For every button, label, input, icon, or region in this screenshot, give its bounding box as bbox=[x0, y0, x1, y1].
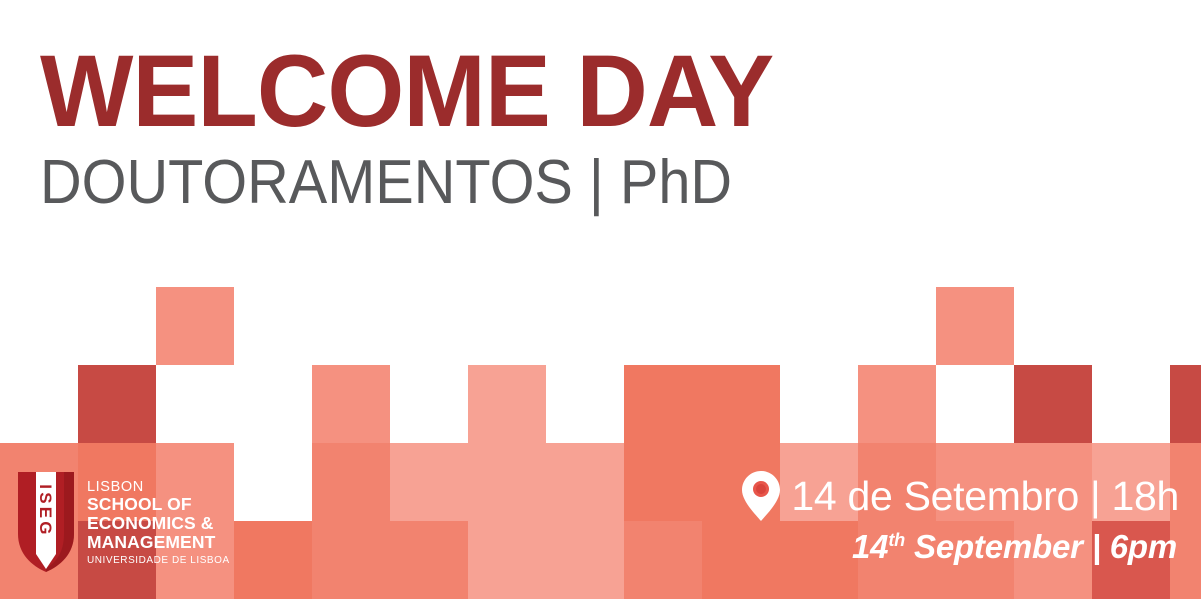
mosaic-cell bbox=[1170, 365, 1201, 443]
event-date-en-ordinal: th bbox=[888, 530, 905, 550]
event-date-pt: 14 de Setembro | 18h bbox=[791, 476, 1179, 517]
mosaic-cell bbox=[468, 443, 546, 521]
map-pin-icon bbox=[741, 470, 781, 522]
mosaic-cell bbox=[390, 443, 468, 521]
shield-wrap: ISEG bbox=[16, 470, 76, 574]
page-subtitle: DOUTORAMENTOS | PhD bbox=[40, 152, 803, 214]
mosaic-cell bbox=[312, 365, 390, 443]
mosaic-cell bbox=[468, 365, 546, 443]
logo-line-school-of: SCHOOL OF bbox=[87, 496, 230, 514]
event-date-en-suffix: September | 6pm bbox=[905, 528, 1177, 565]
mosaic-cell bbox=[234, 443, 312, 521]
mosaic-cell bbox=[78, 365, 156, 443]
logo-line-lisbon: LISBON bbox=[87, 480, 230, 495]
mosaic-cell bbox=[390, 521, 468, 599]
headline-group: WELCOME DAY DOUTORAMENTOS | PhD bbox=[40, 42, 860, 214]
iseg-logo: ISEG LISBON SCHOOL OF ECONOMICS & MANAGE… bbox=[16, 466, 236, 578]
logo-text-block: LISBON SCHOOL OF ECONOMICS & MANAGEMENT … bbox=[87, 478, 230, 566]
mosaic-cell bbox=[702, 365, 780, 443]
event-date-block: 14 de Setembro | 18h 14th September | 6p… bbox=[741, 470, 1179, 563]
shield-label: ISEG bbox=[36, 484, 55, 537]
event-date-en: 14th September | 6pm bbox=[741, 530, 1177, 563]
mosaic-cell bbox=[858, 365, 936, 443]
welcome-day-banner: WELCOME DAY DOUTORAMENTOS | PhD ISEG LIS… bbox=[0, 0, 1201, 601]
iseg-shield-icon: ISEG bbox=[16, 470, 76, 574]
logo-line-management: MANAGEMENT bbox=[87, 534, 230, 552]
mosaic-cell bbox=[312, 443, 390, 521]
mosaic-cell bbox=[234, 521, 312, 599]
mosaic-cell bbox=[936, 287, 1014, 365]
mosaic-cell bbox=[624, 443, 702, 521]
mosaic-cell bbox=[546, 443, 624, 521]
mosaic-cell bbox=[468, 521, 546, 599]
page-title: WELCOME DAY bbox=[40, 42, 835, 142]
mosaic-cell bbox=[624, 521, 702, 599]
mosaic-cell bbox=[1014, 365, 1092, 443]
mosaic-cell bbox=[156, 287, 234, 365]
event-date-row-pt: 14 de Setembro | 18h bbox=[741, 470, 1179, 522]
mosaic-cell bbox=[624, 365, 702, 443]
mosaic-cell bbox=[312, 521, 390, 599]
mosaic-cell bbox=[546, 521, 624, 599]
event-date-en-prefix: 14 bbox=[852, 528, 888, 565]
logo-line-economics: ECONOMICS & bbox=[87, 515, 230, 533]
logo-line-universidade: UNIVERSIDADE DE LISBOA bbox=[87, 556, 230, 566]
